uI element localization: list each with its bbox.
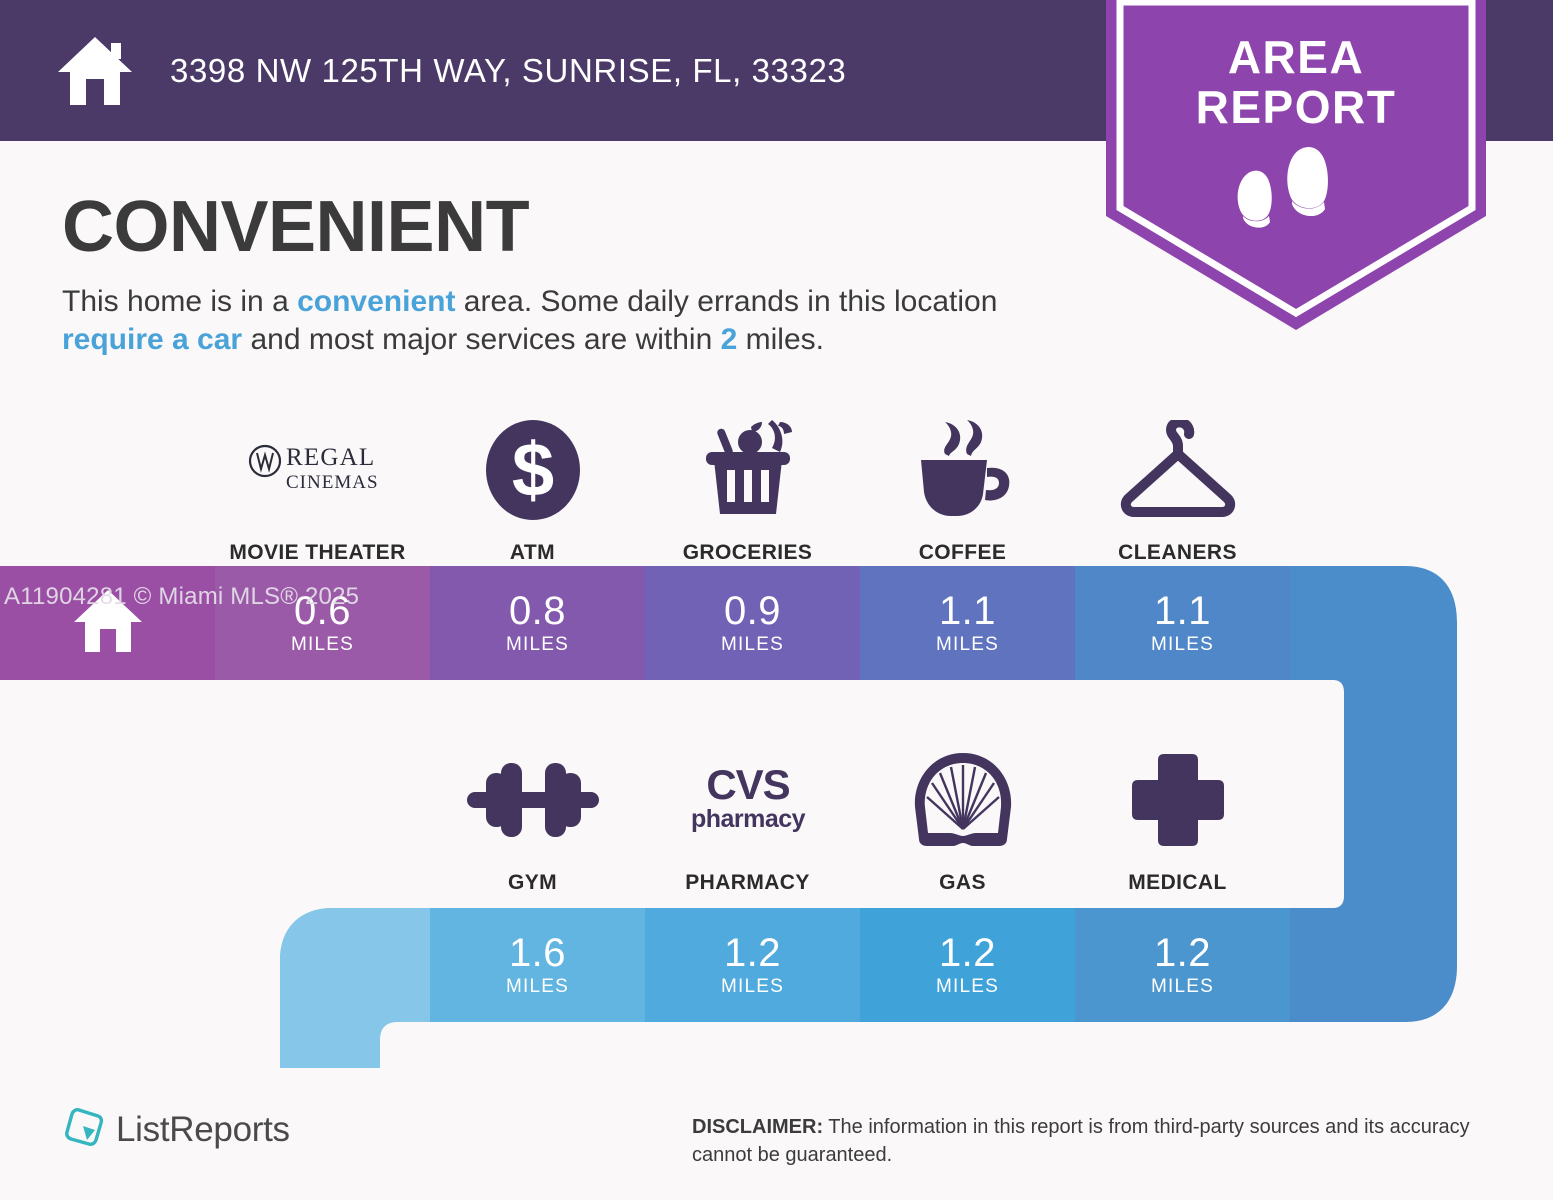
sentence-part: area. Some daily errands in this locatio… (455, 285, 997, 318)
svg-text:$: $ (511, 428, 553, 513)
distance-cell-cleaners: 1.1 MILES (1075, 566, 1290, 680)
badge-line-2: REPORT (1106, 82, 1486, 132)
amenity-label: GROCERIES (683, 541, 813, 565)
amenity-gas: GAS (855, 745, 1070, 895)
page-title: CONVENIENT (62, 188, 529, 266)
header-content: 3398 NW 125TH WAY, SUNRISE, FL, 33323 (56, 0, 846, 141)
footprints-icon (1229, 146, 1364, 241)
shell-logo (911, 745, 1015, 855)
sentence-highlight: require a car (62, 323, 242, 356)
amenity-label: CLEANERS (1118, 541, 1237, 565)
distance-cell-pharmacy: 1.2 MILES (645, 908, 860, 1022)
amenity-icon-row-2: GYM CVS pharmacy PHARMACY (425, 745, 1285, 895)
amenity-pharmacy: CVS pharmacy PHARMACY (640, 745, 855, 895)
amenity-label: GAS (939, 871, 986, 895)
track-tail-down (280, 1022, 380, 1066)
amenity-label: GYM (508, 871, 557, 895)
svg-text:pharmacy: pharmacy (690, 805, 805, 833)
distance-cell-gym: 1.6 MILES (430, 908, 645, 1022)
svg-text:CINEMAS: CINEMAS (286, 472, 379, 493)
amenity-icon-row-1: REGAL CINEMAS MOVIE THEATER $ ATM (210, 415, 1285, 565)
summary-sentence: This home is in a convenient area. Some … (62, 283, 1072, 359)
distance-unit: MILES (1151, 634, 1214, 656)
sentence-part: miles. (737, 323, 824, 356)
distance-value: 1.2 (724, 932, 781, 974)
distance-unit: MILES (936, 976, 999, 998)
coffee-cup-icon (909, 415, 1017, 525)
distance-unit: MILES (506, 976, 569, 998)
listreports-logo-icon (62, 1106, 104, 1153)
amenity-cleaners: CLEANERS (1070, 415, 1285, 565)
sentence-highlight: 2 (721, 323, 738, 356)
area-report-page: 3398 NW 125TH WAY, SUNRISE, FL, 33323 AR… (0, 0, 1553, 1200)
home-icon (56, 35, 134, 107)
distance-unit: MILES (721, 634, 784, 656)
distance-value: 0.8 (509, 590, 566, 632)
dumbbell-icon (467, 745, 599, 855)
property-address: 3398 NW 125TH WAY, SUNRISE, FL, 33323 (170, 52, 846, 90)
sentence-highlight: convenient (297, 285, 455, 318)
listreports-logo-text: ListReports (116, 1110, 290, 1150)
mls-watermark: A11904281 © Miami MLS® 2025 (4, 583, 359, 611)
disclaimer-label: DISCLAIMER: (692, 1116, 823, 1138)
distance-cell-medical: 1.2 MILES (1075, 908, 1290, 1022)
distance-cell-coffee: 1.1 MILES (860, 566, 1075, 680)
distance-value: 1.2 (1154, 932, 1211, 974)
distance-unit: MILES (1151, 976, 1214, 998)
distance-unit: MILES (721, 976, 784, 998)
sentence-part: This home is in a (62, 285, 297, 318)
amenity-label: COFFEE (919, 541, 1007, 565)
distance-unit: MILES (506, 634, 569, 656)
amenity-groceries: GROCERIES (640, 415, 855, 565)
amenity-movie-theater: REGAL CINEMAS MOVIE THEATER (210, 415, 425, 565)
svg-text:REGAL: REGAL (286, 444, 375, 471)
distance-unit: MILES (291, 634, 354, 656)
distance-value: 0.9 (724, 590, 781, 632)
medical-cross-icon (1130, 745, 1226, 855)
disclaimer: DISCLAIMER: The information in this repo… (692, 1113, 1492, 1169)
distance-cell-atm: 0.8 MILES (430, 566, 645, 680)
amenity-label: ATM (510, 541, 555, 565)
regal-cinemas-logo: REGAL CINEMAS (245, 415, 390, 525)
distance-value: 1.1 (1154, 590, 1211, 632)
svg-text:CVS: CVS (706, 763, 789, 808)
amenity-label: MOVIE THEATER (229, 541, 405, 565)
cvs-pharmacy-logo: CVS pharmacy (677, 745, 819, 855)
grocery-basket-icon (694, 415, 802, 525)
badge-text: AREA REPORT (1106, 32, 1486, 132)
distance-value: 1.1 (939, 590, 996, 632)
distance-value: 1.2 (939, 932, 996, 974)
amenity-label: PHARMACY (685, 871, 810, 895)
distance-unit: MILES (936, 634, 999, 656)
amenity-coffee: COFFEE (855, 415, 1070, 565)
distance-value: 1.6 (509, 932, 566, 974)
amenity-medical: MEDICAL (1070, 745, 1285, 895)
distance-cell-groceries: 0.9 MILES (645, 566, 860, 680)
distance-cell-gas: 1.2 MILES (860, 908, 1075, 1022)
amenity-label: MEDICAL (1128, 871, 1226, 895)
listreports-logo[interactable]: ListReports (62, 1106, 290, 1153)
amenity-gym: GYM (425, 745, 640, 895)
badge-line-1: AREA (1106, 32, 1486, 82)
sentence-part: and most major services are within (242, 323, 721, 356)
dollar-circle-icon: $ (481, 415, 585, 525)
area-report-badge: AREA REPORT (1106, 0, 1486, 330)
clothes-hanger-icon (1119, 415, 1237, 525)
amenity-atm: $ ATM (425, 415, 640, 565)
